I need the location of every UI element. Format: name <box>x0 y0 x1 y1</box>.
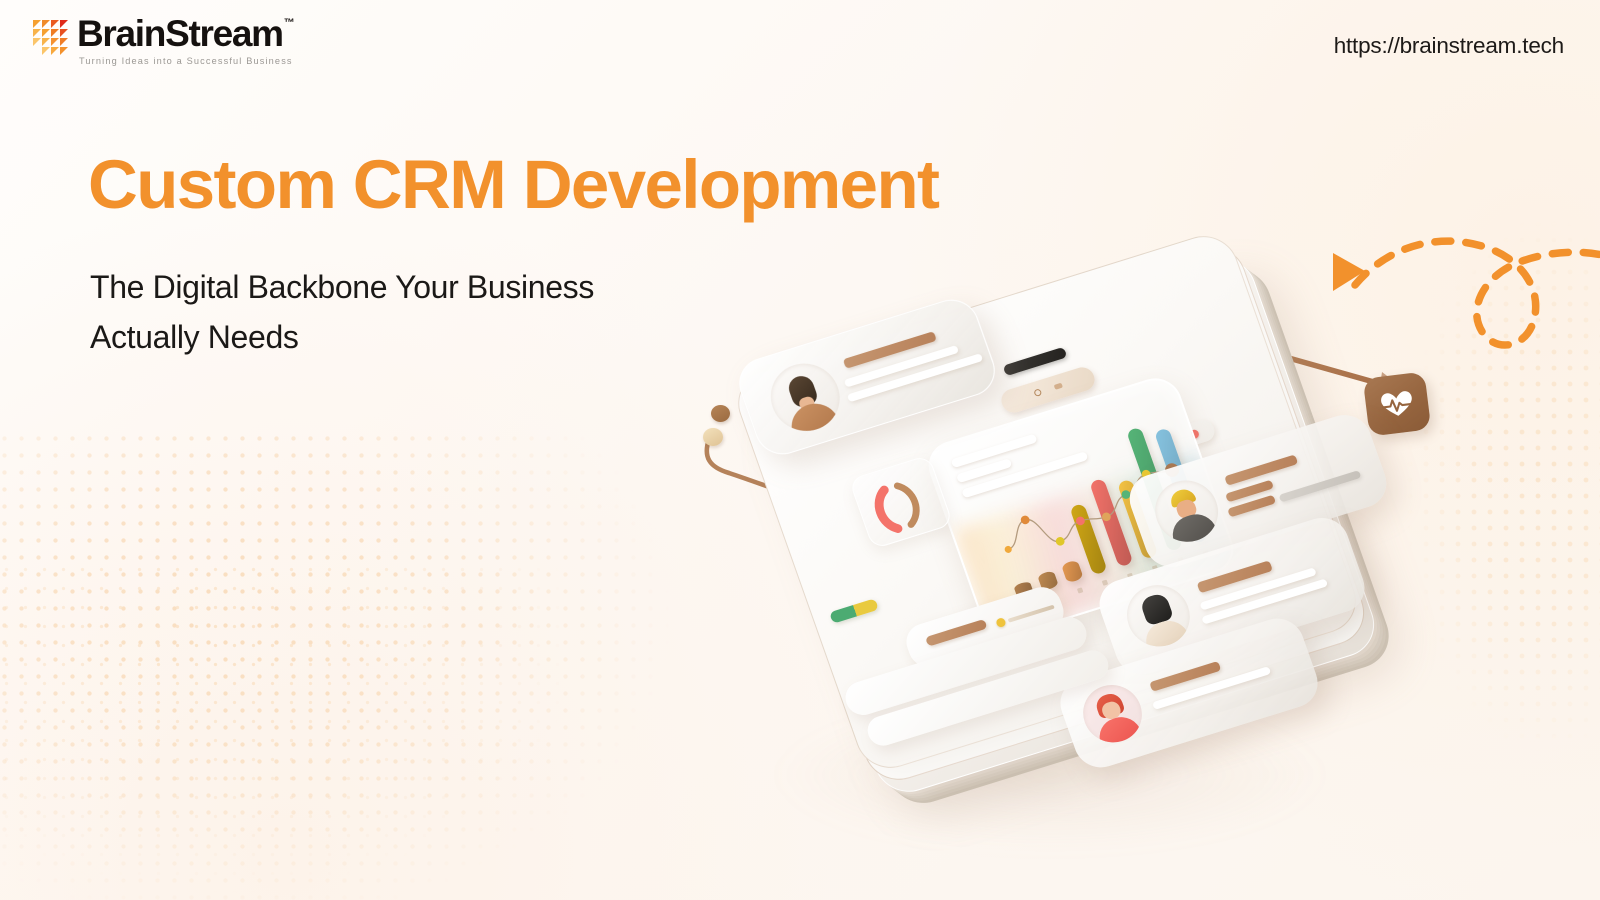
halftone-dot-field-icon <box>0 430 680 900</box>
logo-text-wrap: BrainStream ™ Turning Ideas into a Succe… <box>77 14 295 66</box>
halftone-dot-field-secondary-icon <box>0 560 640 900</box>
page-subtitle-line-2: Actually Needs <box>90 313 594 363</box>
triangle-grid-icon <box>33 18 71 58</box>
chart-data-point <box>1055 536 1066 547</box>
slider-handle-icon[interactable] <box>995 617 1007 628</box>
chart-data-point <box>1075 516 1086 527</box>
connector-dot-cream-icon <box>703 428 723 446</box>
site-url-link[interactable]: https://brainstream.tech <box>1334 33 1564 59</box>
marketing-banner: BrainStream ™ Turning Ideas into a Succe… <box>0 0 1600 900</box>
search-icon <box>1033 388 1042 397</box>
page-subtitle-line-1: The Digital Backbone Your Business <box>90 263 594 313</box>
page-title: Custom CRM Development <box>88 148 938 223</box>
chart-data-point <box>1101 511 1112 522</box>
logo-tagline: Turning Ideas into a Successful Business <box>79 56 295 66</box>
contact-name-bar <box>1224 454 1298 485</box>
avatar <box>761 355 849 439</box>
avatar <box>1147 473 1227 550</box>
chart-data-point <box>1020 515 1031 526</box>
trademark-symbol: ™ <box>284 17 295 29</box>
chart-data-point <box>1004 545 1013 554</box>
search-placeholder-icon <box>1054 383 1063 390</box>
slider-label-bar <box>925 619 988 647</box>
logo-word-row: BrainStream ™ <box>77 14 295 54</box>
crm-dashboard-3d-render <box>735 275 1415 785</box>
avatar-body-icon <box>785 398 842 440</box>
logo-wordmark: BrainStream <box>77 14 283 54</box>
avatar <box>1075 678 1150 750</box>
brand-logo[interactable]: BrainStream ™ Turning Ideas into a Succe… <box>33 14 295 66</box>
page-subtitle: The Digital Backbone Your Business Actua… <box>90 263 594 362</box>
avatar-body-icon <box>1167 509 1220 549</box>
contact-detail-bar-3 <box>1279 470 1362 503</box>
slider-track-icon[interactable] <box>1008 605 1055 623</box>
connector-dot-brown-icon <box>711 405 730 422</box>
avatar <box>1118 577 1198 654</box>
